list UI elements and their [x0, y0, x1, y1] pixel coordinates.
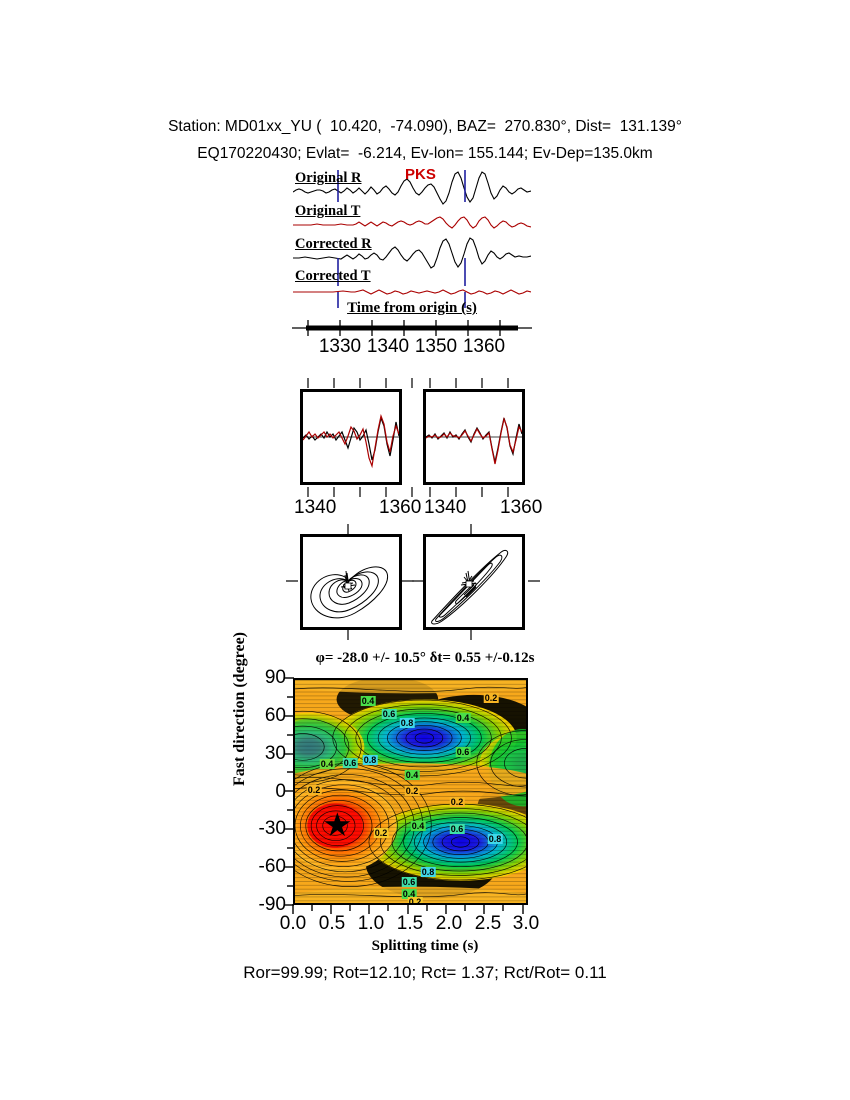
compare-left-tick-1360: 1360 [379, 497, 421, 519]
waveform-compare-panel-right [423, 389, 525, 485]
time-axis: Time from origin (s) 1330 1340 1350 1360 [288, 300, 536, 358]
compare-panels-top-ticks [296, 378, 530, 390]
contour-label-18: 0.6 [402, 877, 417, 887]
compare-right-tick-1360: 1360 [500, 497, 542, 519]
quality-statistics-line: Ror=99.99; Rot=12.10; Rct= 1.37; Rct/Rot… [0, 963, 850, 983]
contour-label-10: 0.2 [307, 785, 322, 795]
trace-label-original-r: Original R [295, 170, 361, 187]
contour-x-axis-label: Splitting time (s) [0, 938, 850, 955]
waveform-stack: PKS Original R Original T Corrected R Co… [293, 168, 531, 308]
compare-left-slow [303, 416, 399, 466]
contour-label-17: 0.8 [421, 867, 436, 877]
xtick-2-5: 2.5 [475, 913, 501, 935]
pks-phase-label: PKS [405, 166, 436, 183]
contour-label-15: 0.6 [450, 824, 465, 834]
compare-right-transverse [426, 419, 522, 464]
compare-right-svg [426, 392, 522, 482]
contour-label-9: 0.4 [405, 770, 420, 780]
contour-x-tick-labels: 0.0 0.5 1.0 1.5 2.0 2.5 3.0 [293, 913, 528, 937]
contour-label-3: 0.2 [484, 693, 499, 703]
time-tick-1360: 1360 [463, 336, 505, 358]
time-tick-1340: 1340 [367, 336, 409, 358]
ytick-neg30: -30 [259, 818, 286, 840]
misfit-contour-plot: 0.4 0.6 0.8 0.2 0.4 0.6 0.4 0.6 0.8 0.4 … [293, 678, 528, 905]
contour-label-1: 0.6 [382, 709, 397, 719]
contour-label-11: 0.2 [405, 786, 420, 796]
trace-label-corrected-t: Corrected T [295, 268, 371, 285]
time-axis-title: Time from origin (s) [288, 300, 536, 317]
time-axis-tick-labels: 1330 1340 1350 1360 [288, 336, 536, 358]
trace-label-original-t: Original T [295, 203, 360, 220]
station-info-line: Station: MD01xx_YU ( 10.420, -74.090), B… [0, 118, 850, 136]
trace-path-corrected-t [293, 290, 531, 294]
xtick-3-0: 3.0 [513, 913, 539, 935]
contour-y-tick-labels: 90 60 30 0 -30 -60 -90 [236, 678, 286, 905]
waveform-compare-panel-left [300, 389, 402, 485]
hodogram-top-ticks [296, 524, 530, 536]
splitting-parameters-title: φ= -28.0 +/- 10.5° δt= 0.55 +/-0.12s [0, 650, 850, 667]
contour-label-8: 0.8 [363, 755, 378, 765]
xtick-1-0: 1.0 [358, 913, 384, 935]
xtick-0-0: 0.0 [280, 913, 306, 935]
contour-label-4: 0.4 [456, 713, 471, 723]
contour-label-14: 0.4 [411, 821, 426, 831]
figure-page: Station: MD01xx_YU ( 10.420, -74.090), B… [0, 0, 850, 1100]
trace-label-corrected-r: Corrected R [295, 236, 372, 253]
contour-label-6: 0.4 [320, 759, 335, 769]
contour-label-0: 0.4 [361, 696, 376, 706]
ytick-neg60: -60 [259, 856, 286, 878]
hodogram-side-ticks [286, 576, 540, 588]
compare-left-svg [303, 392, 399, 482]
compare-left-tick-1340: 1340 [294, 497, 336, 519]
contour-label-16: 0.8 [488, 834, 503, 844]
contour-label-2: 0.8 [400, 718, 415, 728]
contour-label-7: 0.6 [343, 758, 358, 768]
compare-right-tick-1340: 1340 [424, 497, 466, 519]
contour-label-12: 0.2 [450, 797, 465, 807]
time-tick-1350: 1350 [415, 336, 457, 358]
contour-label-layer: 0.4 0.6 0.8 0.2 0.4 0.6 0.4 0.6 0.8 0.4 … [295, 680, 526, 903]
contour-label-13: 0.2 [374, 828, 389, 838]
compare-right-radial [426, 418, 522, 462]
contour-label-5: 0.6 [456, 747, 471, 757]
time-tick-1330: 1330 [319, 336, 361, 358]
hodogram-bottom-ticks [296, 630, 530, 642]
xtick-0-5: 0.5 [319, 913, 345, 935]
compare-panels-bottom-ticks [296, 485, 530, 497]
xtick-2-0: 2.0 [436, 913, 462, 935]
xtick-1-5: 1.5 [397, 913, 423, 935]
event-info-line: EQ170220430; Evlat= -6.214, Ev-lon= 155.… [0, 145, 850, 163]
